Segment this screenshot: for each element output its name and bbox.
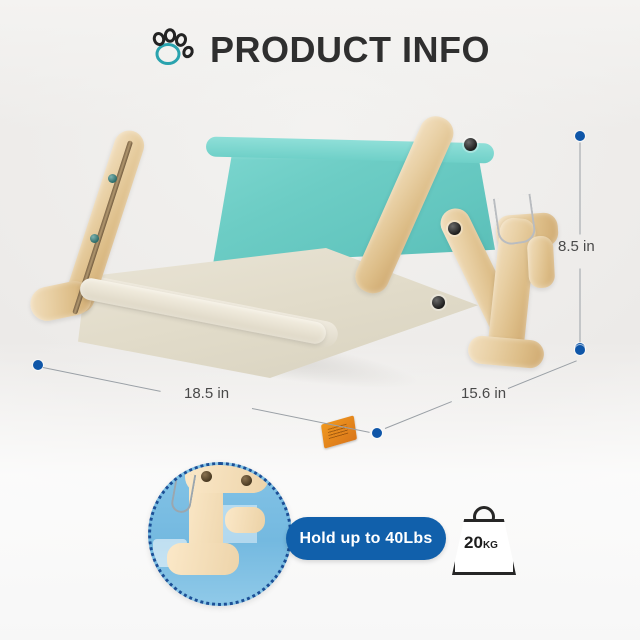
inset-bracket-lip [225,507,265,533]
left-wooden-leg [36,122,126,334]
dim-width-label: 18.5 in [184,385,229,402]
inset-bracket-top [185,462,269,493]
paw-icon [150,28,196,72]
weight-icon-unit: KG [483,540,498,551]
metal-wire-hook [493,194,537,247]
dim-height-label: 8.5 in [558,238,595,255]
right-wooden-bracket [412,114,572,384]
product-image [0,100,640,430]
product-info-infographic: PRODUCT INFO [0,0,640,640]
inset-knob-right [241,475,252,486]
weight-icon: 20KG [452,506,510,572]
dim-width-dot-right [372,428,382,438]
bracket-knob-bottom [432,296,445,309]
capacity-badge-label: Hold up to 40Lbs [300,530,433,548]
left-leg-pin-lower [90,234,99,243]
weight-icon-value: 20 [464,533,483,552]
weight-icon-text: 20KG [452,534,510,551]
dim-height-line-lower [580,269,581,345]
bracket-base [467,335,545,370]
page-header: PRODUCT INFO [0,28,640,72]
bracket-knob-middle [448,222,461,235]
left-leg-pin-upper [108,174,117,183]
bracket-knob-top [464,138,477,151]
dim-width-dot-left [33,360,43,370]
bracket-closeup-inset [148,462,292,606]
inset-bracket-foot [167,543,239,575]
dim-depth-dot-right [575,345,585,355]
capacity-badge: Hold up to 40Lbs [286,517,446,560]
dim-height-dot-top [575,131,585,141]
page-title: PRODUCT INFO [210,32,490,68]
inset-knob-left [201,471,212,482]
dim-height-line-upper [580,143,581,235]
bracket-j-lip [527,235,556,288]
dim-depth-label: 15.6 in [461,385,506,402]
